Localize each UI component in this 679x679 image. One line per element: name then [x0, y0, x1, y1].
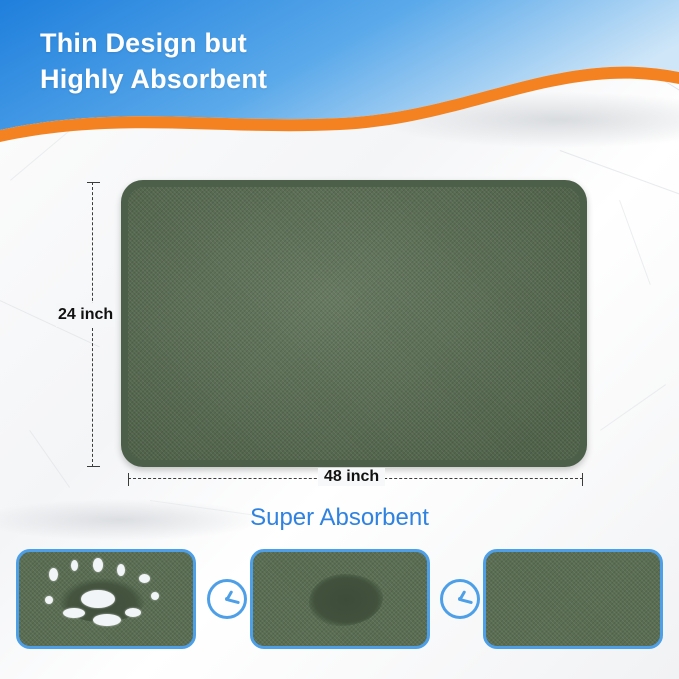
- product-infographic: Thin Design but Highly Absorbent 24 inch…: [0, 0, 679, 679]
- height-dimension-label: 24 inch: [56, 303, 115, 327]
- water-droplet: [63, 608, 85, 618]
- clock-center-pin: [458, 597, 462, 601]
- water-droplet: [93, 558, 103, 572]
- header-banner: Thin Design but Highly Absorbent: [0, 0, 679, 152]
- water-droplet: [125, 608, 141, 617]
- clock-icon-1: [207, 579, 247, 619]
- marble-vein: [600, 384, 666, 431]
- water-droplet: [81, 590, 115, 608]
- clock-center-pin: [225, 597, 229, 601]
- water-droplet: [151, 592, 159, 600]
- absorbed-water-stain: [309, 574, 383, 626]
- panel-water-splash: [16, 549, 196, 649]
- mat-fabric-texture: [128, 187, 580, 460]
- product-mat: [121, 180, 587, 467]
- marble-vein: [29, 430, 70, 488]
- section-title: Super Absorbent: [0, 504, 679, 532]
- clock-icon-2: [440, 579, 480, 619]
- header-title: Thin Design but Highly Absorbent: [40, 26, 267, 98]
- water-droplet: [117, 564, 125, 576]
- marble-vein: [619, 200, 651, 285]
- panel-dry-mat: [483, 549, 663, 649]
- water-droplet: [139, 574, 150, 583]
- water-droplet: [71, 560, 78, 571]
- water-droplet: [93, 614, 121, 626]
- water-droplet: [45, 596, 53, 604]
- panel-absorbed-stain: [250, 549, 430, 649]
- water-droplet: [49, 568, 58, 581]
- width-dimension-label: 48 inch: [318, 468, 385, 486]
